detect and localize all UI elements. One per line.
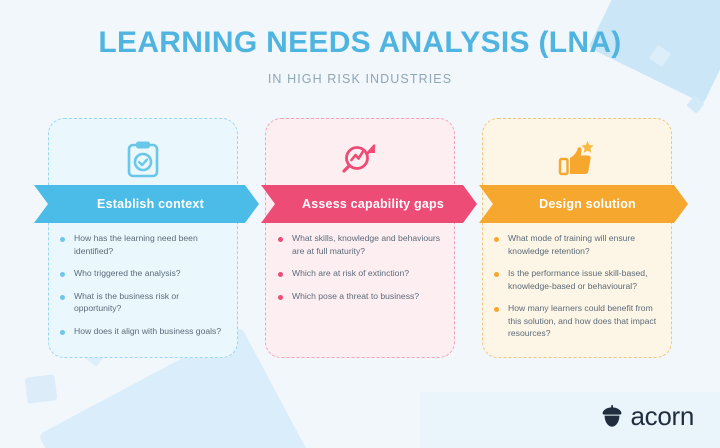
list-item: What is the business risk or opportunity…: [60, 290, 228, 315]
bullet-dot-icon: [60, 272, 65, 277]
banner-design-solution[interactable]: Design solution: [479, 185, 688, 223]
bullet-dot-icon: [60, 237, 65, 242]
list-item: How many learners could benefit from thi…: [494, 302, 662, 340]
list-item: Which pose a threat to business?: [278, 290, 446, 303]
bullet-list-establish-context: How has the learning need been identifie…: [60, 232, 228, 347]
decorative-square-small-3: [25, 374, 58, 403]
bullet-text: What skills, knowledge and behaviours ar…: [292, 232, 446, 257]
page-title: LEARNING NEEDS ANALYSIS (LNA): [0, 26, 720, 60]
bullet-dot-icon: [494, 237, 499, 242]
bullet-text: How many learners could benefit from thi…: [508, 302, 662, 340]
list-item: Which are at risk of extinction?: [278, 267, 446, 280]
magnifier-trend-arrow-icon: [266, 133, 454, 185]
bullet-text: Which pose a threat to business?: [292, 290, 419, 303]
banner-assess-capability-gaps[interactable]: Assess capability gaps: [261, 185, 477, 223]
bullet-dot-icon: [278, 237, 283, 242]
banner-label: Establish context: [89, 197, 204, 211]
bullet-text: Which are at risk of extinction?: [292, 267, 409, 280]
header: LEARNING NEEDS ANALYSIS (LNA) IN HIGH RI…: [0, 26, 720, 86]
bullet-dot-icon: [278, 295, 283, 300]
bullet-dot-icon: [494, 272, 499, 277]
bullet-text: Who triggered the analysis?: [74, 267, 181, 280]
bullet-text: How has the learning need been identifie…: [74, 232, 228, 257]
bullet-text: What mode of training will ensure knowle…: [508, 232, 662, 257]
bullet-dot-icon: [60, 295, 65, 300]
bullet-dot-icon: [494, 307, 499, 312]
decorative-square-small-2: [686, 95, 704, 113]
bullet-dot-icon: [278, 272, 283, 277]
bullet-dot-icon: [60, 330, 65, 335]
acorn-logo: acorn: [601, 401, 694, 432]
bullet-text: How does it align with business goals?: [74, 325, 221, 338]
banner-label: Assess capability gaps: [294, 197, 444, 211]
acorn-icon: [601, 405, 623, 429]
list-item: Who triggered the analysis?: [60, 267, 228, 280]
banner-establish-context[interactable]: Establish context: [34, 185, 259, 223]
logo-text: acorn: [630, 401, 694, 432]
infographic-canvas: LEARNING NEEDS ANALYSIS (LNA) IN HIGH RI…: [0, 0, 720, 448]
bullet-list-assess-capability-gaps: What skills, knowledge and behaviours ar…: [278, 232, 446, 312]
clipboard-check-icon: [49, 133, 237, 185]
bullet-text: What is the business risk or opportunity…: [74, 290, 228, 315]
page-subtitle: IN HIGH RISK INDUSTRIES: [0, 72, 720, 86]
bullet-text: Is the performance issue skill-based, kn…: [508, 267, 662, 292]
list-item: What mode of training will ensure knowle…: [494, 232, 662, 257]
list-item: What skills, knowledge and behaviours ar…: [278, 232, 446, 257]
list-item: Is the performance issue skill-based, kn…: [494, 267, 662, 292]
list-item: How does it align with business goals?: [60, 325, 228, 338]
thumbs-up-star-icon: [483, 133, 671, 185]
banner-label: Design solution: [531, 197, 636, 211]
bullet-list-design-solution: What mode of training will ensure knowle…: [494, 232, 662, 350]
list-item: How has the learning need been identifie…: [60, 232, 228, 257]
